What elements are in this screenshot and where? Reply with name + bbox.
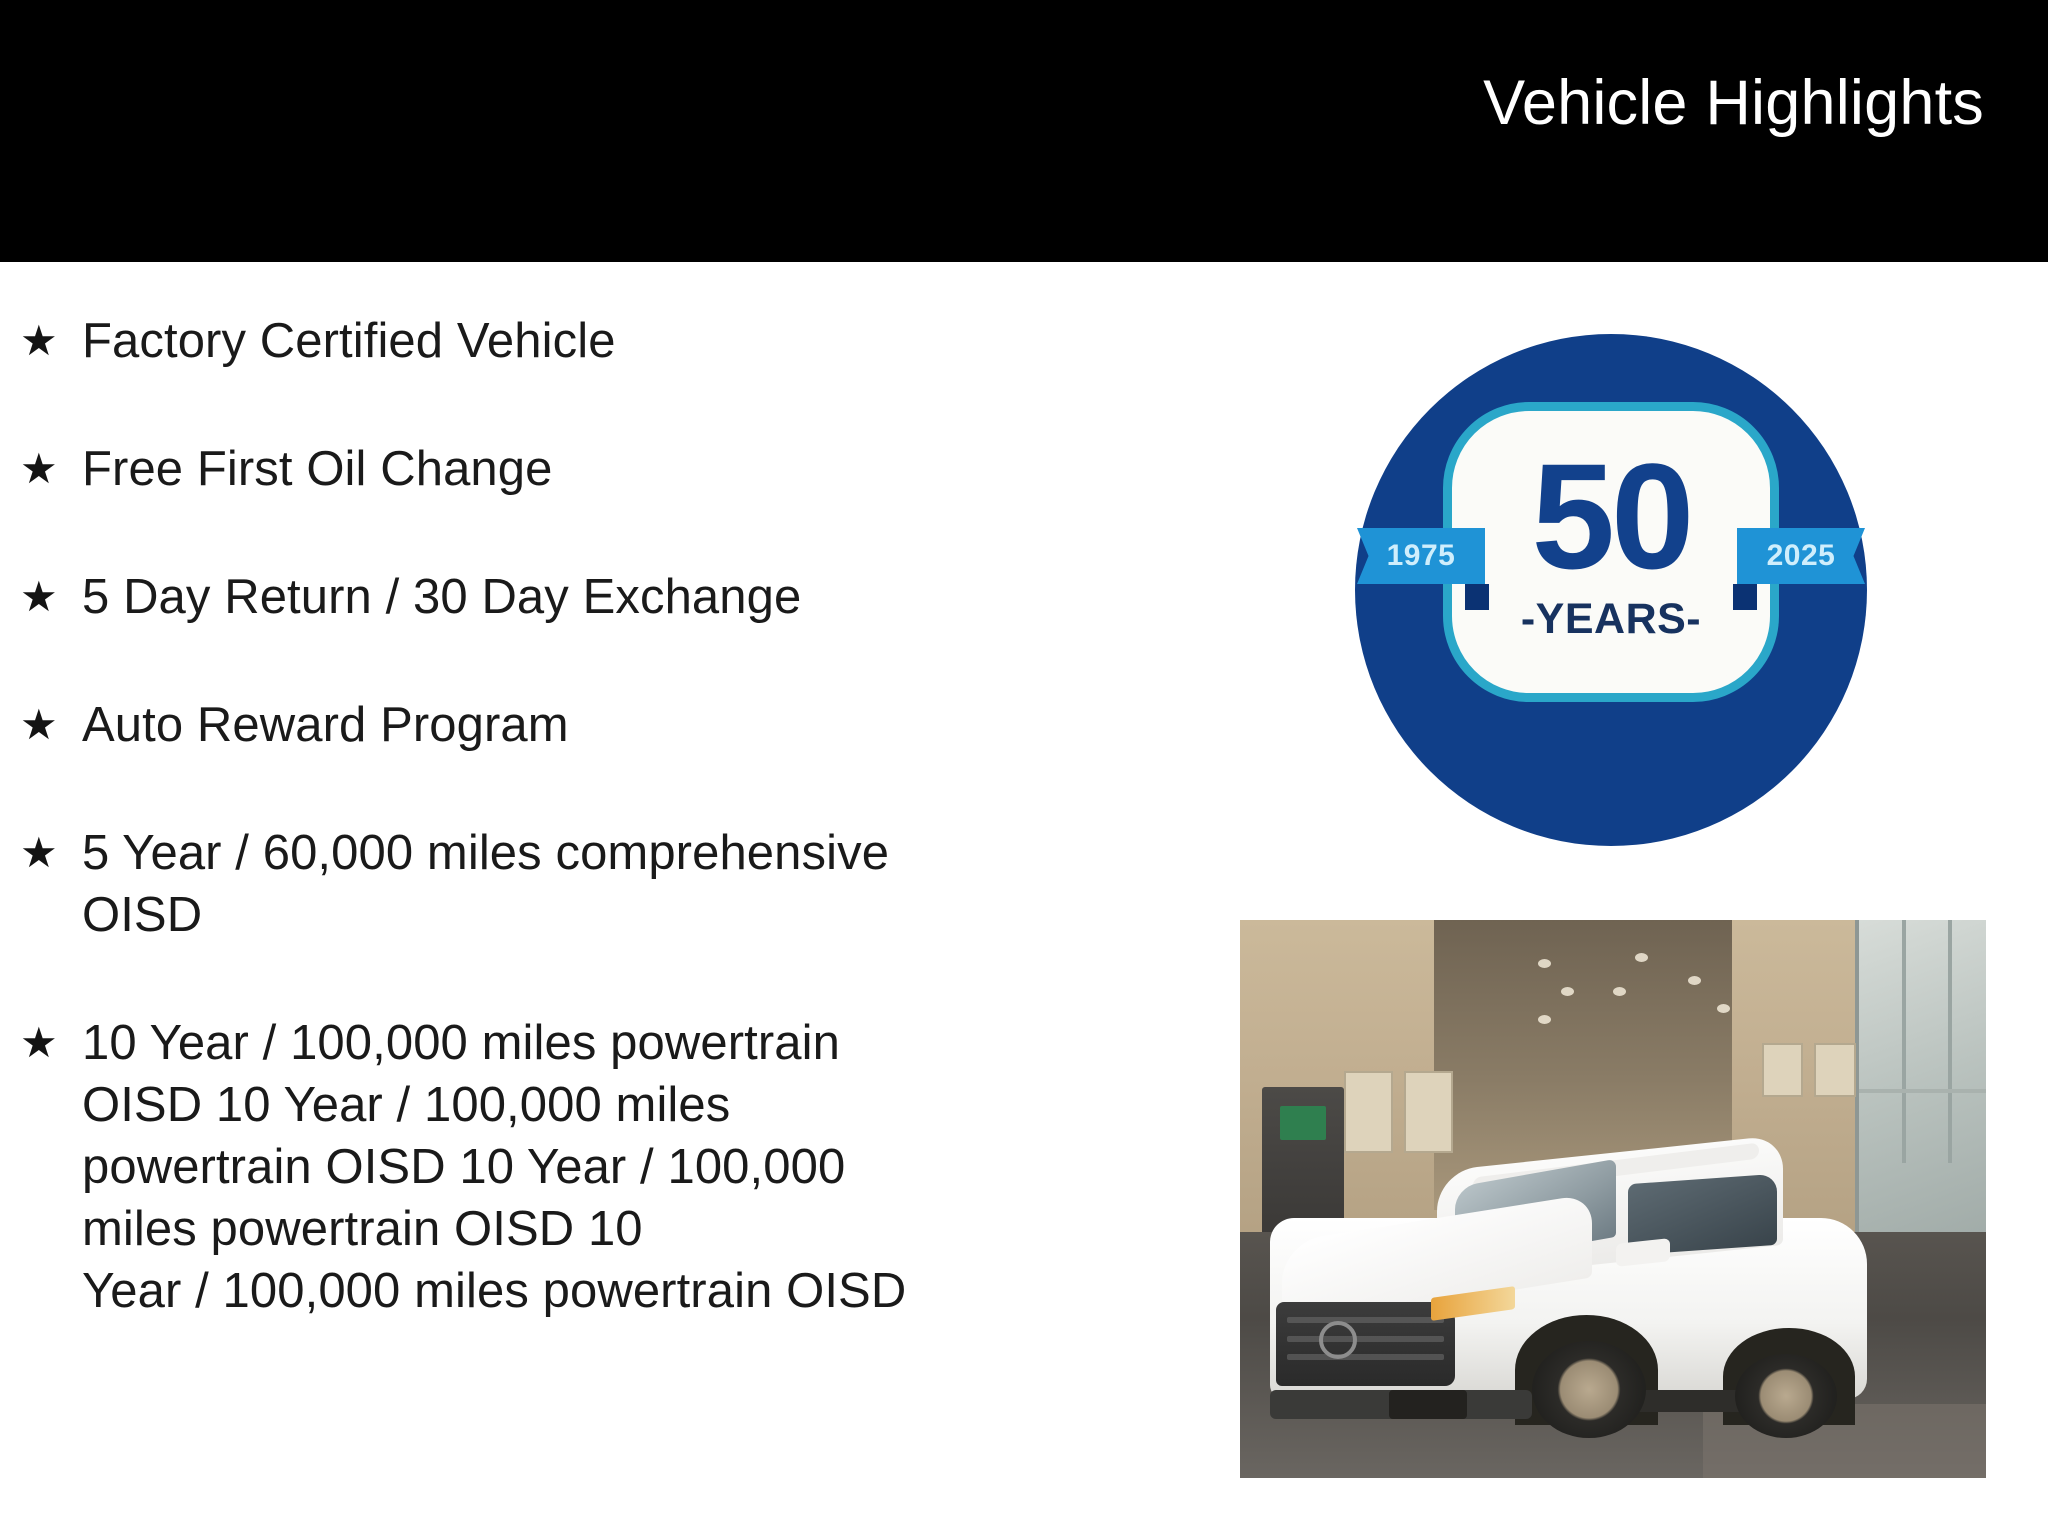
- list-item-label: 5 Year / 60,000 miles comprehensive OISD: [82, 822, 1230, 946]
- photo-ceiling-light: [1561, 987, 1574, 996]
- header-bar: Vehicle Highlights: [0, 0, 2048, 262]
- list-item: ★ Factory Certified Vehicle: [0, 310, 1230, 372]
- suv-wheel-rear: [1735, 1354, 1836, 1438]
- vehicle-highlights-slide: Vehicle Highlights ★ Factory Certified V…: [0, 0, 2048, 1536]
- suv-grille-bar: [1287, 1354, 1445, 1360]
- photo-window-rail: [1859, 1089, 1986, 1093]
- star-icon: ★: [20, 566, 82, 628]
- list-item-label: Free First Oil Change: [82, 438, 1230, 500]
- star-icon: ★: [20, 310, 82, 372]
- list-item: ★ 5 Day Return / 30 Day Exchange: [0, 566, 1230, 628]
- list-item-label: 10 Year / 100,000 miles powertrain OISD …: [82, 1012, 1230, 1322]
- suv-grille: [1276, 1302, 1455, 1386]
- list-item-label: Factory Certified Vehicle: [82, 310, 1230, 372]
- photo-ceiling-light: [1717, 1004, 1730, 1013]
- star-icon: ★: [20, 438, 82, 500]
- list-item: ★ Auto Reward Program: [0, 694, 1230, 756]
- suv-wheel-front: [1532, 1341, 1645, 1438]
- page-title: Vehicle Highlights: [1483, 72, 1984, 135]
- list-item-label: 5 Day Return / 30 Day Exchange: [82, 566, 1230, 628]
- list-item: ★ Free First Oil Change: [0, 438, 1230, 500]
- suv-grille-bar: [1287, 1336, 1445, 1342]
- ribbon-tail-left: [1465, 584, 1489, 610]
- photo-ceiling-light: [1613, 987, 1626, 996]
- photo-window-mullion: [1902, 920, 1906, 1163]
- star-icon: ★: [20, 694, 82, 756]
- photo-wall-panel: [1762, 1043, 1803, 1097]
- suv-foglight: [1389, 1390, 1467, 1419]
- star-icon: ★: [20, 822, 82, 884]
- suv-brand-logo-icon: [1319, 1321, 1357, 1359]
- highlights-list: ★ Factory Certified Vehicle ★ Free First…: [0, 262, 1230, 1322]
- anniversary-badge-icon: 50 -YEARS- 1975 2025: [1355, 334, 1867, 846]
- badge-year-start: 1975: [1357, 528, 1485, 584]
- suv-grille-bar: [1287, 1317, 1445, 1323]
- badge-caption: -YEARS-: [1467, 598, 1755, 641]
- list-item: ★ 10 Year / 100,000 miles powertrain OIS…: [0, 1012, 1230, 1322]
- badge-number: 50: [1467, 440, 1755, 593]
- badge-year-end: 2025: [1737, 528, 1865, 584]
- badge-panel: 50 -YEARS-: [1467, 426, 1755, 678]
- vehicle-photo: [1240, 920, 1986, 1478]
- photo-wall-panel: [1814, 1043, 1855, 1097]
- photo-suv: [1270, 1121, 1867, 1445]
- photo-ceiling-light: [1688, 976, 1701, 985]
- star-icon: ★: [20, 1012, 82, 1074]
- list-item: ★ 5 Year / 60,000 miles comprehensive OI…: [0, 822, 1230, 946]
- photo-window-mullion: [1948, 920, 1952, 1163]
- list-item-label: Auto Reward Program: [82, 694, 1230, 756]
- ribbon-tail-right: [1733, 584, 1757, 610]
